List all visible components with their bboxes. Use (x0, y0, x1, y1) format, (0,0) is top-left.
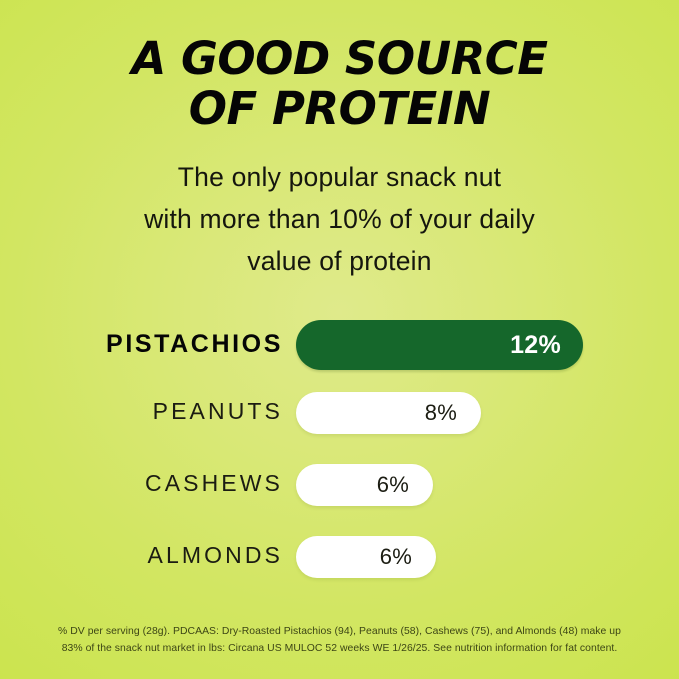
subtitle-line-2: with more than 10% of your daily (0, 198, 679, 240)
headline-line-1: A GOOD SOURCE (0, 34, 679, 84)
bar-label-peanuts: PEANUTS (0, 398, 283, 425)
chart-row-cashews: CASHEWS 6% (0, 456, 679, 528)
bar-almonds: 6% (296, 536, 436, 578)
headline: A GOOD SOURCE OF PROTEIN (0, 34, 679, 134)
footnote: % DV per serving (28g). PDCAAS: Dry-Roas… (0, 623, 679, 657)
bar-value-almonds: 6% (380, 544, 436, 570)
chart-row-almonds: ALMONDS 6% (0, 528, 679, 600)
bar-value-cashews: 6% (377, 472, 433, 498)
footnote-line-1: % DV per serving (28g). PDCAAS: Dry-Roas… (0, 623, 679, 640)
protein-bar-chart: PISTACHIOS 12% PEANUTS 8% CASHEWS 6% ALM… (0, 312, 679, 600)
bar-cashews: 6% (296, 464, 433, 506)
bar-peanuts: 8% (296, 392, 481, 434)
subtitle-line-3: value of protein (0, 240, 679, 282)
bar-label-pistachios: PISTACHIOS (0, 330, 283, 359)
bar-pistachios: 12% (296, 320, 583, 370)
subtitle: The only popular snack nut with more tha… (0, 156, 679, 282)
bar-value-peanuts: 8% (425, 400, 481, 426)
bar-label-almonds: ALMONDS (0, 542, 283, 569)
footnote-line-2: 83% of the snack nut market in lbs: Circ… (0, 640, 679, 657)
bar-label-cashews: CASHEWS (0, 470, 283, 497)
chart-row-pistachios: PISTACHIOS 12% (0, 312, 679, 384)
subtitle-line-1: The only popular snack nut (0, 156, 679, 198)
chart-row-peanuts: PEANUTS 8% (0, 384, 679, 456)
headline-line-2: OF PROTEIN (0, 84, 679, 134)
protein-infographic-poster: A GOOD SOURCE OF PROTEIN The only popula… (0, 0, 679, 679)
bar-value-pistachios: 12% (510, 331, 583, 360)
